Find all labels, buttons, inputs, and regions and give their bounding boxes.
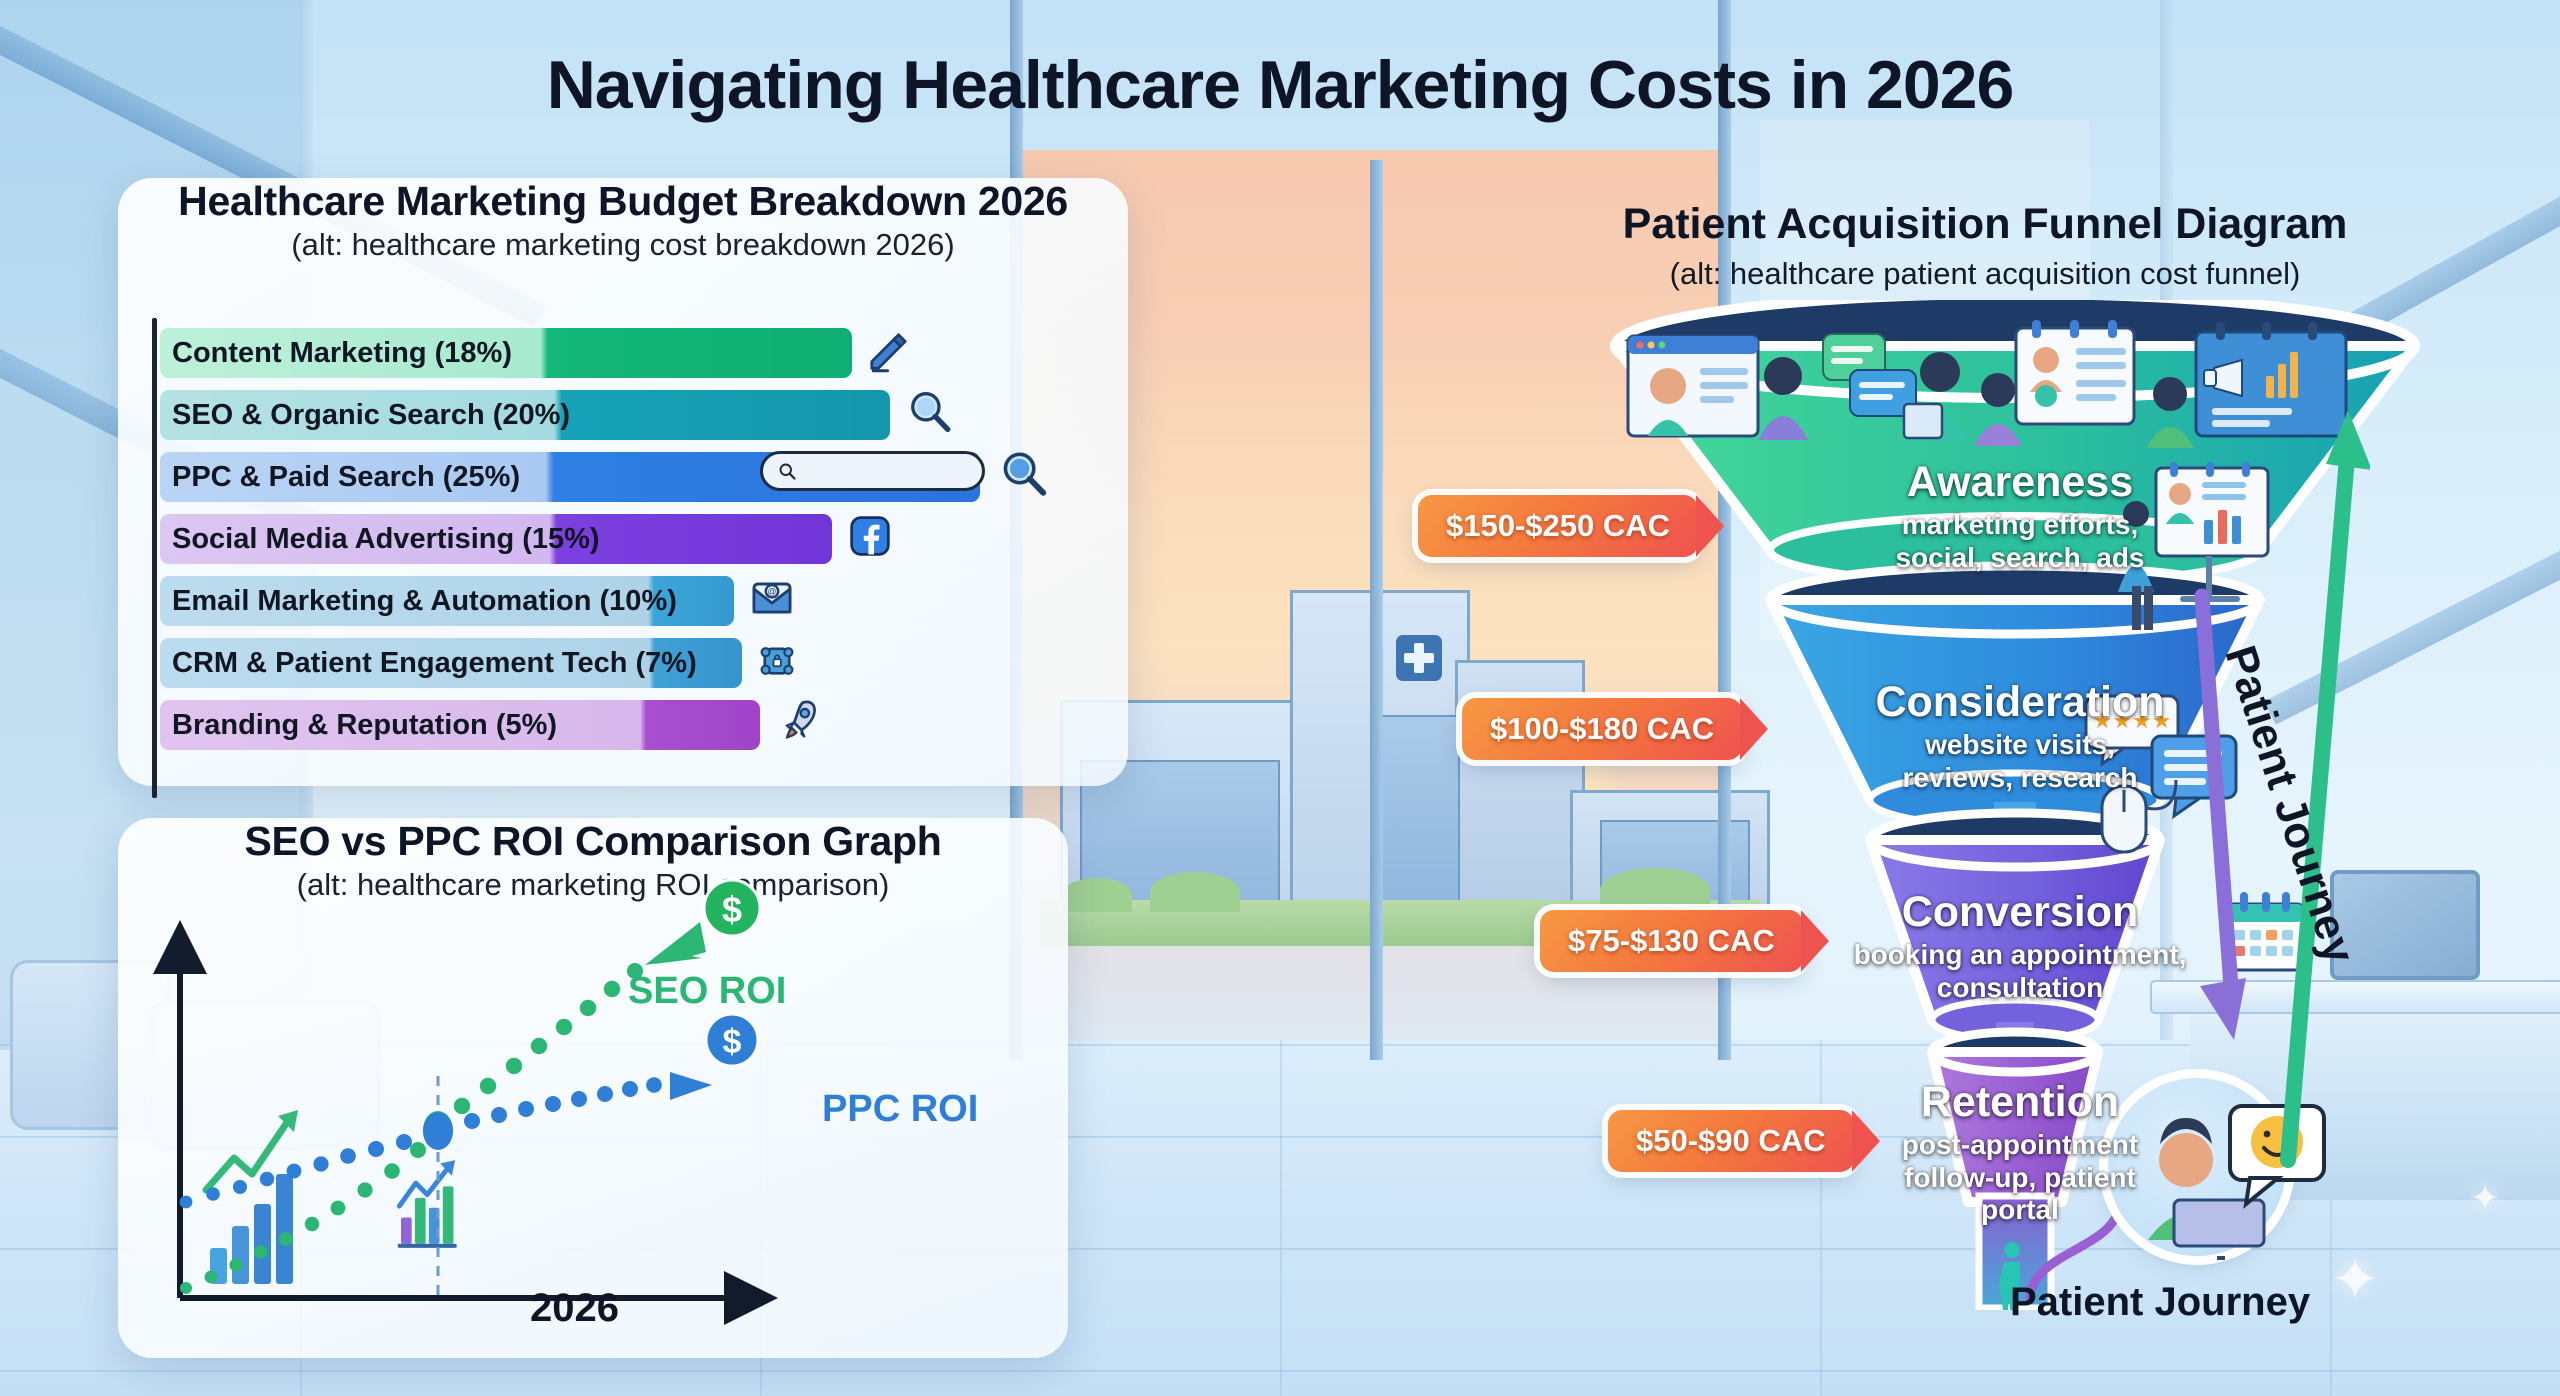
cac-badge-retention: $50-$90 CAC <box>1608 1110 1854 1172</box>
sparkle-icon: ✦ <box>2470 1180 2500 1216</box>
stage-text-consideration: Consideration website visits, reviews, r… <box>1730 680 2310 794</box>
stage-desc-2: consultation <box>1760 972 2280 1004</box>
stage-name: Awareness <box>1700 460 2340 505</box>
crm-lock-icon <box>756 640 798 682</box>
bar-label: Content Marketing (18%) <box>160 337 512 370</box>
svg-text:@: @ <box>768 587 777 597</box>
cac-badge-awareness: $150-$250 CAC <box>1418 495 1698 557</box>
bar-label: Social Media Advertising (15%) <box>160 523 600 556</box>
svg-text:$: $ <box>722 889 742 930</box>
budget-bar-chart: Content Marketing (18%) SEO & Organic Se… <box>160 322 1040 756</box>
magnifier-icon <box>904 386 954 436</box>
page-title: Navigating Healthcare Marketing Costs in… <box>0 46 2560 124</box>
bush <box>1150 872 1240 912</box>
bar-row[interactable]: Branding & Reputation (5%) <box>160 694 1040 756</box>
stage-text-conversion: Conversion booking an appointment, consu… <box>1760 890 2280 1004</box>
profile-card-icon <box>2016 328 2134 424</box>
cac-badge-consideration: $100-$180 CAC <box>1462 698 1742 760</box>
stage-name: Retention <box>1830 1080 2210 1125</box>
stage-desc-1: booking an appointment, <box>1760 939 2280 971</box>
ppc-roi-legend: PPC ROI <box>822 1088 978 1131</box>
bar-label: Email Marketing & Automation (10%) <box>160 585 677 618</box>
journey-bottom-label: Patient Journey <box>2010 1280 2310 1325</box>
building-glass-main <box>1370 715 1460 915</box>
bar-row[interactable]: Content Marketing (18%) <box>160 322 1040 384</box>
pen-icon <box>866 328 912 374</box>
budget-card-title: Healthcare Marketing Budget Breakdown 20… <box>118 178 1128 225</box>
magnifier-icon <box>996 446 1050 500</box>
dollar-coin-icon-blue: $ <box>706 1014 758 1066</box>
bar-row[interactable]: SEO & Organic Search (20%) <box>160 384 1040 446</box>
email-icon: @ <box>748 574 796 622</box>
facebook-icon <box>848 514 892 558</box>
dollar-coin-icon-green: $ <box>704 880 760 936</box>
budget-card-header: Healthcare Marketing Budget Breakdown 20… <box>118 178 1128 263</box>
stage-desc-2: follow-up, patient <box>1830 1162 2210 1194</box>
budget-card-subtitle: (alt: healthcare marketing cost breakdow… <box>118 227 1128 263</box>
stage-text-retention: Retention post-appointment follow-up, pa… <box>1830 1080 2210 1227</box>
stage-desc-1: website visits, <box>1730 729 2310 761</box>
bar-label: SEO & Organic Search (20%) <box>160 399 570 432</box>
bar-row[interactable]: CRM & Patient Engagement Tech (7%) <box>160 632 1040 694</box>
stage-desc-1: marketing efforts, <box>1700 509 2340 541</box>
bar-row[interactable]: PPC & Paid Search (25%) <box>160 446 1040 508</box>
stage-desc-2: reviews, research <box>1730 762 2310 794</box>
window-mullion <box>1370 160 1383 1060</box>
seo-roi-legend: SEO ROI <box>628 970 786 1013</box>
search-bar-icon[interactable] <box>760 451 985 491</box>
stage-name: Consideration <box>1730 680 2310 725</box>
cac-badge-conversion: $75-$130 CAC <box>1540 910 1803 972</box>
decorative-bar-chart-icon <box>206 1110 298 1284</box>
stage-desc-3: portal <box>1830 1194 2210 1226</box>
budget-chart-axis <box>152 318 157 798</box>
bar-label: Branding & Reputation (5%) <box>160 709 557 742</box>
bar-label: PPC & Paid Search (25%) <box>160 461 520 494</box>
roi-year-label: 2026 <box>530 1286 619 1331</box>
bush <box>1062 878 1132 912</box>
bar-row[interactable]: Email Marketing & Automation (10%) @ <box>160 570 1040 632</box>
hospital-cross-icon <box>1396 635 1442 681</box>
svg-text:$: $ <box>723 1023 742 1061</box>
bar-row[interactable]: Social Media Advertising (15%) <box>160 508 1040 570</box>
stage-text-awareness: Awareness marketing efforts, social, sea… <box>1700 460 2340 574</box>
bar-label: CRM & Patient Engagement Tech (7%) <box>160 647 697 680</box>
funnel-card-subtitle: (alt: healthcare patient acquisition cos… <box>1450 256 2520 292</box>
stage-desc-1: post-appointment <box>1830 1129 2210 1161</box>
stage-name: Conversion <box>1760 890 2280 935</box>
stage-desc-2: social, search, ads <box>1700 542 2340 574</box>
funnel-card-title: Patient Acquisition Funnel Diagram <box>1480 200 2490 249</box>
rocket-icon <box>774 696 824 746</box>
decorative-bar-chart-icon-2 <box>398 1160 457 1248</box>
